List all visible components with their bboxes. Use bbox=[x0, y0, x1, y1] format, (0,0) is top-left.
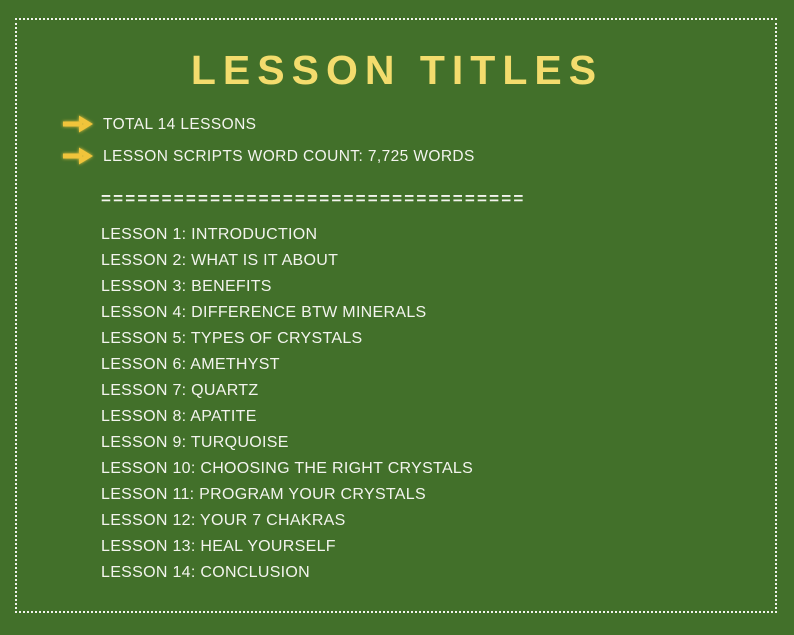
list-item: LESSON 7: QUARTZ bbox=[101, 378, 741, 404]
list-item: LESSON 10: CHOOSING THE RIGHT CRYSTALS bbox=[101, 456, 741, 482]
slide-content: LESSON TITLES bbox=[0, 0, 794, 635]
list-item: LESSON 5: TYPES OF CRYSTALS bbox=[101, 326, 741, 352]
lesson-list: LESSON 1: INTRODUCTION LESSON 2: WHAT IS… bbox=[101, 222, 741, 586]
list-item: LESSON SCRIPTS WORD COUNT: 7,725 WORDS bbox=[60, 142, 760, 170]
arrow-right-icon bbox=[60, 145, 96, 167]
list-item: LESSON 12: YOUR 7 CHAKRAS bbox=[101, 508, 741, 534]
arrow-right-icon bbox=[60, 113, 96, 135]
list-item: LESSON 8: APATITE bbox=[101, 404, 741, 430]
list-item: LESSON 13: HEAL YOURSELF bbox=[101, 534, 741, 560]
summary-item-label: TOTAL 14 LESSONS bbox=[103, 116, 256, 133]
list-item: LESSON 2: WHAT IS IT ABOUT bbox=[101, 248, 741, 274]
list-item: LESSON 6: AMETHYST bbox=[101, 352, 741, 378]
list-item: LESSON 14: CONCLUSION bbox=[101, 560, 741, 586]
list-item: LESSON 4: DIFFERENCE BTW MINERALS bbox=[101, 300, 741, 326]
page-title: LESSON TITLES bbox=[0, 48, 794, 93]
list-item: LESSON 1: INTRODUCTION bbox=[101, 222, 741, 248]
list-item: LESSON 3: BENEFITS bbox=[101, 274, 741, 300]
summary-item-label: LESSON SCRIPTS WORD COUNT: 7,725 WORDS bbox=[103, 148, 475, 165]
section-divider: =================================== bbox=[101, 192, 591, 206]
summary-list: TOTAL 14 LESSONS bbox=[60, 110, 760, 174]
list-item: TOTAL 14 LESSONS bbox=[60, 110, 760, 138]
list-item: LESSON 11: PROGRAM YOUR CRYSTALS bbox=[101, 482, 741, 508]
slide-canvas: LESSON TITLES bbox=[0, 0, 794, 635]
list-item: LESSON 9: TURQUOISE bbox=[101, 430, 741, 456]
